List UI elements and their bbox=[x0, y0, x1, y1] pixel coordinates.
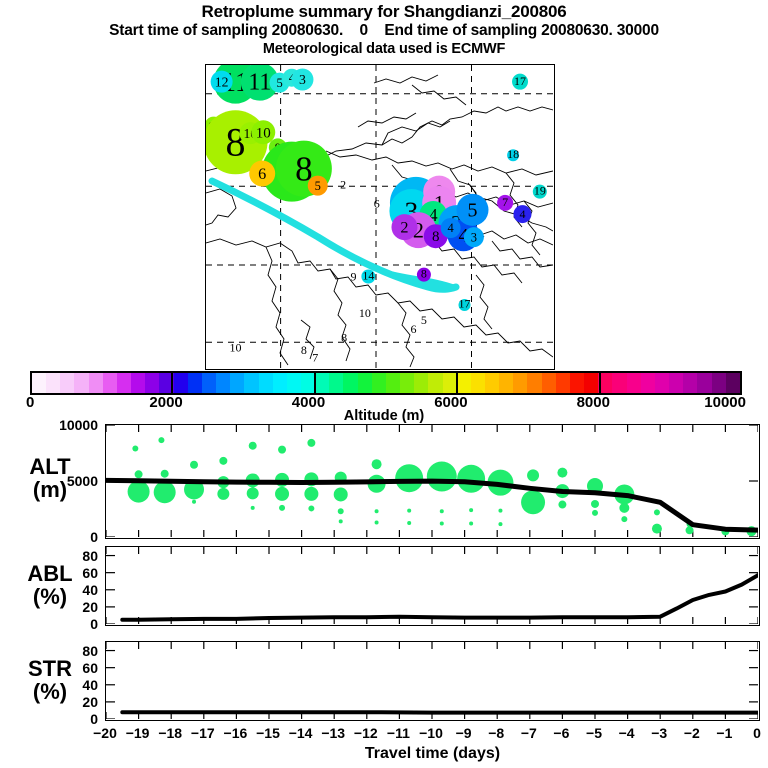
alt-bubble bbox=[372, 459, 382, 469]
colorbar-swatch bbox=[513, 373, 527, 393]
map-day-marker: 6 bbox=[411, 322, 417, 336]
alt-bubble bbox=[217, 488, 229, 500]
alt-bubble bbox=[407, 509, 411, 513]
colorbar-swatch bbox=[457, 373, 471, 393]
colorbar-swatch bbox=[372, 373, 386, 393]
colorbar-swatch bbox=[712, 373, 726, 393]
alt-bubble bbox=[591, 500, 599, 508]
colorbar-swatch bbox=[527, 373, 541, 393]
colorbar-swatch bbox=[188, 373, 202, 393]
map-day-marker: 19 bbox=[533, 184, 547, 199]
alt-bubble bbox=[557, 468, 567, 478]
map-day-label: 7 bbox=[312, 351, 318, 365]
alt-bubble bbox=[527, 469, 539, 481]
abl-chart-panel[interactable] bbox=[105, 546, 760, 626]
alt-chart-svg bbox=[106, 425, 758, 537]
alt-bubble bbox=[135, 470, 143, 478]
map-day-label: 6 bbox=[258, 165, 266, 183]
map-day-marker: 10 bbox=[251, 120, 275, 144]
map-day-marker: 9 bbox=[350, 270, 356, 284]
map-day-marker: 3 bbox=[464, 227, 484, 247]
map-day-label: 8 bbox=[432, 229, 440, 245]
colorbar-swatch bbox=[726, 373, 740, 393]
alt-bubble bbox=[440, 509, 444, 513]
altitude-colorbar[interactable] bbox=[30, 371, 742, 395]
y-tick-label: 80 bbox=[62, 644, 98, 658]
map-day-marker: 2 bbox=[340, 178, 346, 192]
colorbar-axis-label: Altitude (m) bbox=[0, 408, 768, 424]
alt-bubble bbox=[457, 465, 485, 493]
colorbar-swatch bbox=[259, 373, 273, 393]
colorbar-swatch bbox=[556, 373, 570, 393]
map-day-marker: 5 bbox=[421, 313, 427, 327]
y-tick-label: 5000 bbox=[26, 474, 98, 488]
y-tick-label: 0 bbox=[26, 530, 98, 544]
alt-bubble bbox=[192, 500, 196, 504]
colorbar-section-divider bbox=[171, 371, 173, 395]
alt-bubble bbox=[395, 464, 423, 492]
alt-bubble bbox=[308, 505, 314, 511]
alt-bubble bbox=[304, 487, 318, 501]
alt-chart-panel[interactable] bbox=[105, 424, 760, 539]
map-day-label: 5 bbox=[276, 76, 282, 90]
alt-bubble bbox=[279, 505, 285, 511]
alt-bubble bbox=[375, 509, 379, 513]
map-day-marker: 5 bbox=[456, 194, 488, 226]
colorbar-swatch bbox=[655, 373, 669, 393]
colorbar-swatch bbox=[216, 373, 230, 393]
colorbar-section-divider bbox=[314, 371, 316, 395]
str-y-ticks bbox=[106, 651, 758, 719]
map-day-label: 10 bbox=[359, 306, 371, 320]
colorbar-swatch bbox=[570, 373, 584, 393]
map-day-marker: 6 bbox=[374, 196, 380, 210]
colorbar-swatch bbox=[584, 373, 598, 393]
map-day-marker: 10 bbox=[229, 340, 241, 354]
map-day-marker: 8 bbox=[341, 331, 347, 345]
alt-bubble bbox=[440, 522, 444, 526]
map-day-label: 10 bbox=[256, 125, 271, 141]
alt-bubble bbox=[469, 508, 473, 512]
colorbar-swatch bbox=[32, 373, 46, 393]
map-day-label: 12 bbox=[215, 74, 229, 89]
alt-bubble bbox=[619, 503, 629, 513]
x-tick-label: 0 bbox=[737, 726, 768, 741]
alt-bubble bbox=[219, 457, 227, 465]
alt-bubble bbox=[427, 462, 457, 492]
y-tick-label: 20 bbox=[62, 600, 98, 614]
alt-bubble bbox=[190, 461, 198, 469]
colorbar-swatch bbox=[174, 373, 188, 393]
alt-bubble bbox=[621, 516, 627, 522]
colorbar-swatch bbox=[117, 373, 131, 393]
map-day-marker: 18 bbox=[507, 147, 519, 161]
map-day-label: 3 bbox=[471, 230, 477, 244]
alt-bubble bbox=[334, 487, 348, 501]
map-day-marker: 3 bbox=[291, 69, 313, 91]
colorbar-swatch bbox=[612, 373, 626, 393]
colorbar-swatch bbox=[329, 373, 343, 393]
map-day-label: 2 bbox=[400, 219, 408, 237]
map-day-label: 7 bbox=[502, 195, 508, 209]
map-day-label: 19 bbox=[534, 184, 546, 198]
alt-bubble-group bbox=[128, 437, 757, 536]
map-day-label: 8 bbox=[301, 343, 307, 357]
alt-bubble bbox=[338, 508, 344, 514]
colorbar-swatch bbox=[414, 373, 428, 393]
map-day-label: 6 bbox=[411, 322, 417, 336]
alt-bubble bbox=[278, 446, 286, 454]
colorbar-swatch bbox=[103, 373, 117, 393]
map-canvas: 1111125431711810109786526530142234538474… bbox=[206, 65, 553, 368]
coastline-paths bbox=[206, 75, 553, 367]
map-day-marker: 8 bbox=[301, 343, 307, 357]
map-day-marker: 17 bbox=[459, 296, 471, 310]
colorbar-swatch bbox=[145, 373, 159, 393]
map-day-label: 9 bbox=[350, 270, 356, 284]
page-title: Retroplume summary for Shangdianzi_20080… bbox=[0, 2, 768, 21]
colorbar-swatch bbox=[627, 373, 641, 393]
map-day-marker: 7 bbox=[312, 351, 318, 365]
map-day-label: 2 bbox=[340, 178, 346, 192]
colorbar-swatch bbox=[202, 373, 216, 393]
colorbar-swatch bbox=[485, 373, 499, 393]
map-day-marker: 6 bbox=[249, 160, 275, 186]
y-tick-label: 40 bbox=[62, 678, 98, 692]
abl-chart-svg bbox=[106, 547, 758, 624]
alt-bubble bbox=[521, 490, 545, 514]
map-day-label: 8 bbox=[341, 331, 347, 345]
alt-bubble bbox=[132, 446, 138, 452]
alt-bubble bbox=[652, 524, 662, 534]
alt-bubble bbox=[247, 487, 259, 499]
alt-bubble bbox=[498, 509, 502, 513]
abl-x-ticks bbox=[106, 547, 758, 624]
x-axis-label: Travel time (days) bbox=[105, 745, 760, 763]
str-chart-svg bbox=[106, 642, 758, 719]
alt-bubble bbox=[686, 526, 694, 534]
map-day-marker: 12 bbox=[211, 71, 233, 93]
sampling-time-subtitle: Start time of sampling 20080630. 0 End t… bbox=[0, 21, 768, 40]
map-day-marker: 7 bbox=[497, 195, 513, 211]
map-day-label: 10 bbox=[229, 340, 241, 354]
map-day-label: 14 bbox=[362, 268, 374, 282]
map-day-label: 11 bbox=[248, 70, 271, 96]
colorbar-swatch bbox=[669, 373, 683, 393]
alt-bubble bbox=[307, 439, 315, 447]
map-day-label: 17 bbox=[459, 296, 471, 310]
map-day-label: 5 bbox=[467, 200, 477, 222]
colorbar-swatch bbox=[400, 373, 414, 393]
colorbar-swatch bbox=[358, 373, 372, 393]
alt-bubble bbox=[158, 437, 164, 443]
colorbar-swatch bbox=[471, 373, 485, 393]
map-day-label: 4 bbox=[519, 207, 525, 221]
colorbar-swatch bbox=[499, 373, 513, 393]
map-day-marker: 4 bbox=[441, 218, 461, 238]
colorbar-swatch bbox=[230, 373, 244, 393]
map-day-marker: 17 bbox=[512, 74, 528, 90]
alt-bubble bbox=[469, 522, 473, 526]
y-tick-label: 60 bbox=[62, 661, 98, 675]
map-day-label: 4 bbox=[448, 221, 455, 235]
abl-y-ticks bbox=[106, 556, 758, 624]
colorbar-swatch bbox=[542, 373, 556, 393]
map-day-label: 5 bbox=[315, 179, 321, 193]
colorbar-swatch bbox=[343, 373, 357, 393]
str-x-ticks bbox=[106, 642, 758, 719]
retroplume-map[interactable]: 1111125431711810109786526530142234538474… bbox=[205, 64, 555, 370]
alt-bubble bbox=[375, 520, 379, 524]
colorbar-section-divider bbox=[456, 371, 458, 395]
colorbar-section-divider bbox=[599, 371, 601, 395]
y-tick-label: 0 bbox=[62, 617, 98, 631]
y-tick-label: 60 bbox=[62, 566, 98, 580]
alt-bubble bbox=[275, 487, 289, 501]
met-data-subtitle: Meteorological data used is ECMWF bbox=[0, 40, 768, 58]
str-chart-panel[interactable] bbox=[105, 641, 760, 721]
map-day-marker: 10 bbox=[359, 306, 371, 320]
map-day-label: 6 bbox=[374, 196, 380, 210]
alt-bubble bbox=[558, 501, 566, 509]
colorbar-swatch bbox=[273, 373, 287, 393]
alt-bubble bbox=[654, 509, 660, 515]
map-day-label: 3 bbox=[299, 72, 306, 87]
map-day-marker: 5 bbox=[308, 176, 328, 196]
alt-bubble bbox=[128, 481, 150, 503]
map-day-marker: 8 bbox=[417, 267, 431, 282]
alt-bubble bbox=[154, 481, 176, 503]
colorbar-swatch bbox=[74, 373, 88, 393]
colorbar-swatch bbox=[428, 373, 442, 393]
alt-bubble bbox=[339, 519, 343, 523]
map-day-marker: 14 bbox=[361, 268, 375, 283]
colorbar-swatch bbox=[641, 373, 655, 393]
y-tick-label: 40 bbox=[62, 583, 98, 597]
colorbar-swatch bbox=[60, 373, 74, 393]
alt-bubble bbox=[251, 506, 255, 510]
colorbar-swatch bbox=[386, 373, 400, 393]
y-tick-label: 80 bbox=[62, 549, 98, 563]
map-day-label: 18 bbox=[507, 147, 519, 161]
colorbar-swatch bbox=[697, 373, 711, 393]
alt-bubble bbox=[249, 442, 257, 450]
colorbar-swatch bbox=[683, 373, 697, 393]
colorbar-swatch bbox=[287, 373, 301, 393]
y-tick-label: 20 bbox=[62, 695, 98, 709]
map-day-marker: 4 bbox=[513, 205, 531, 223]
colorbar-swatch bbox=[131, 373, 145, 393]
colorbar-swatch bbox=[89, 373, 103, 393]
colorbar-swatch bbox=[46, 373, 60, 393]
alt-bubble bbox=[161, 470, 169, 478]
alt-bubble bbox=[498, 522, 502, 526]
map-gridlines bbox=[206, 65, 553, 368]
map-day-marker: 2 bbox=[391, 214, 417, 240]
alt-bubble bbox=[407, 521, 411, 525]
map-day-label: 5 bbox=[421, 313, 427, 327]
colorbar-swatch bbox=[244, 373, 258, 393]
map-day-label: 8 bbox=[421, 267, 427, 281]
colorbar-swatch bbox=[315, 373, 329, 393]
abl-series-line bbox=[122, 575, 758, 620]
map-day-label: 17 bbox=[514, 74, 526, 88]
y-tick-label: 10000 bbox=[26, 418, 98, 432]
title-block: Retroplume summary for Shangdianzi_20080… bbox=[0, 2, 768, 58]
alt-bubble bbox=[592, 510, 598, 516]
colorbar-swatch bbox=[443, 373, 457, 393]
